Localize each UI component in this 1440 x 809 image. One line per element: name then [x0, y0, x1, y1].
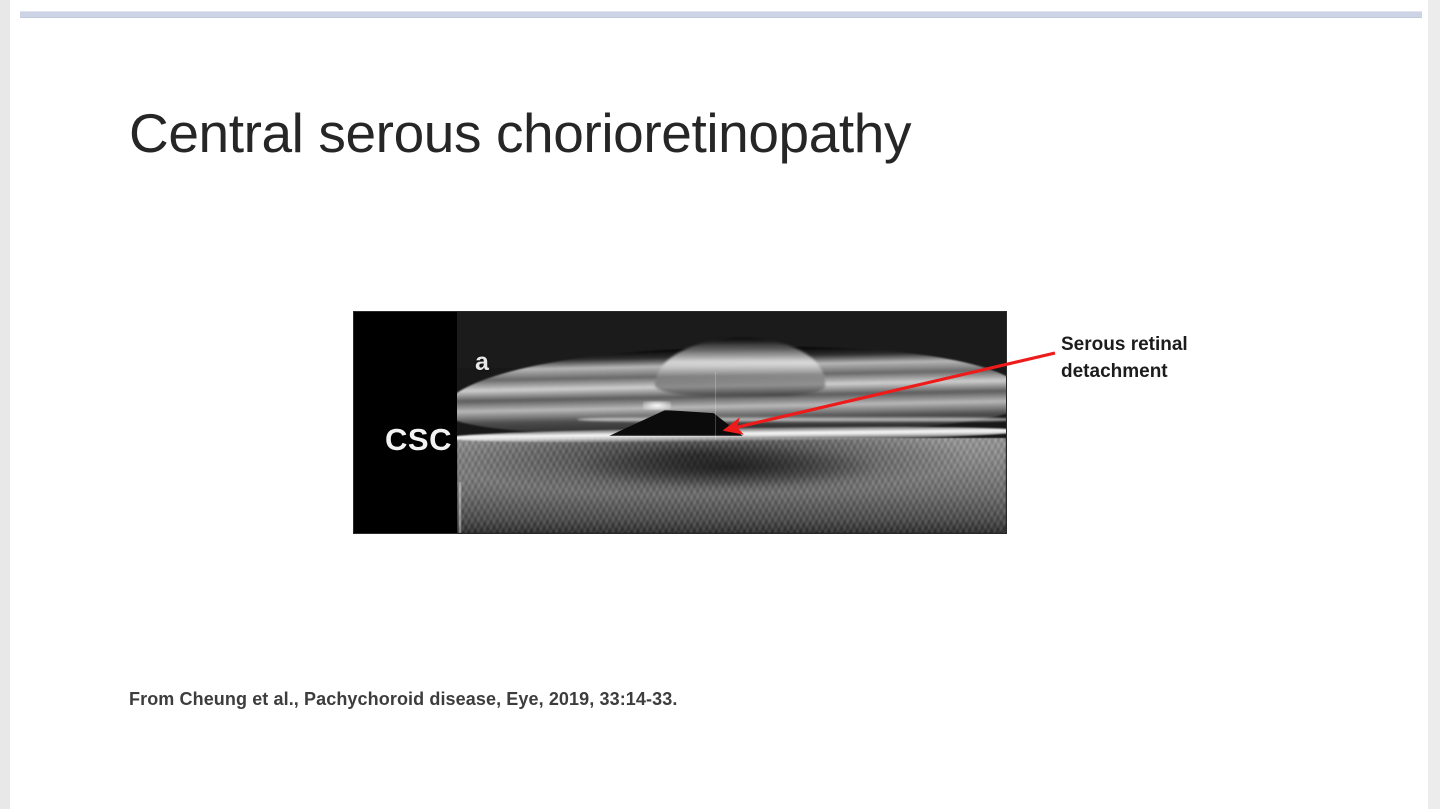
window-left-gutter	[0, 0, 10, 809]
oct-scan-panel: a	[457, 312, 1006, 533]
top-ribbon-strip	[20, 11, 1422, 18]
annotation-label: Serous retinal detachment	[1061, 331, 1291, 385]
app-window: Central serous chorioretinopathy CSC a	[0, 0, 1440, 809]
oct-side-label: CSC	[385, 422, 452, 458]
oct-scan-edge-line	[459, 482, 461, 533]
annotation-label-line1: Serous retinal	[1061, 334, 1188, 355]
oct-scan-artifact-line	[715, 372, 716, 440]
slide-canvas[interactable]: Central serous chorioretinopathy CSC a	[10, 0, 1428, 809]
annotation-label-line2: detachment	[1061, 358, 1291, 385]
window-right-gutter	[1428, 0, 1440, 809]
oct-figure[interactable]: CSC a	[354, 312, 1006, 533]
oct-panel-label: a	[475, 348, 489, 377]
page-title: Central serous chorioretinopathy	[129, 101, 1229, 165]
oct-hyperreflective-dot	[643, 401, 671, 410]
slide-caption: From Cheung et al., Pachychoroid disease…	[129, 689, 677, 710]
oct-pachyvessel	[577, 446, 877, 488]
